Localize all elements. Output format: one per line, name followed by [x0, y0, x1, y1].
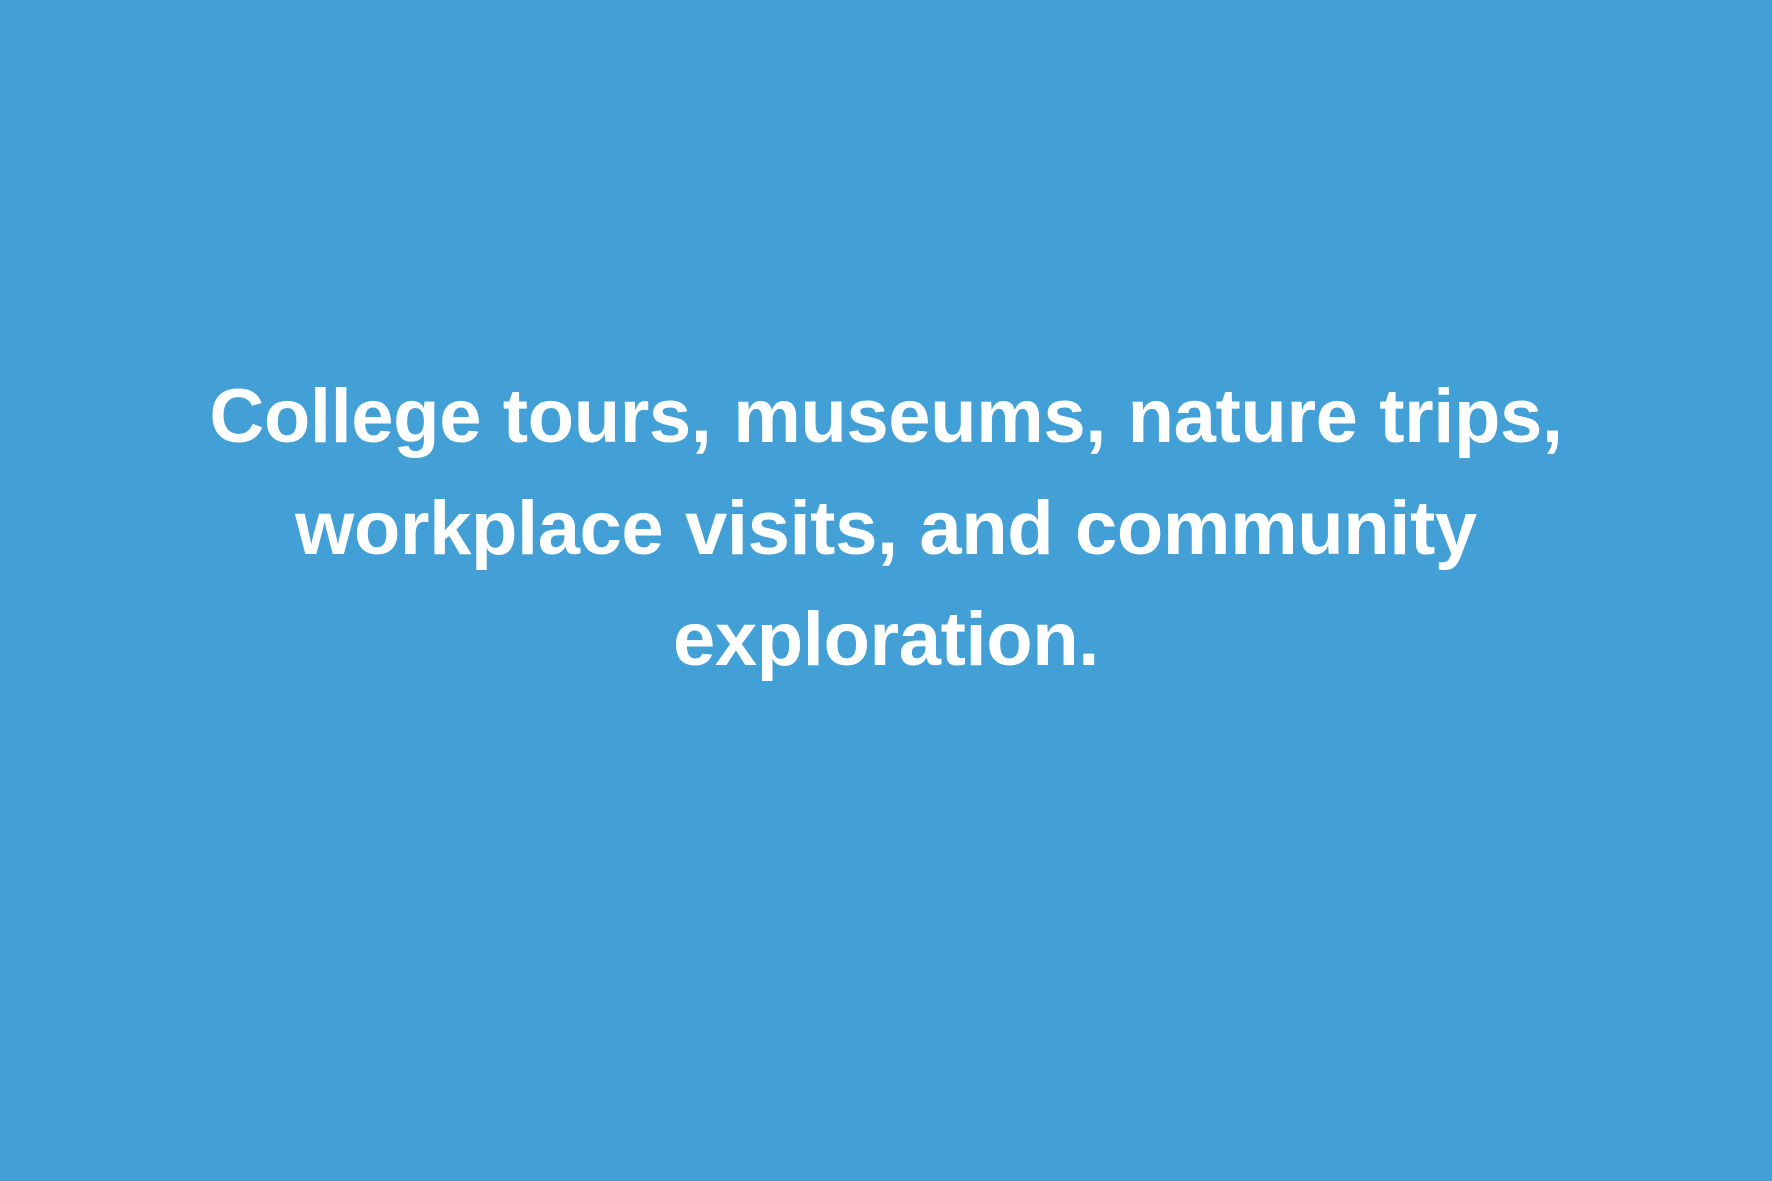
- quote-block: College tours, museums, nature trips, wo…: [66, 361, 1706, 696]
- quote-slide: College tours, museums, nature trips, wo…: [0, 0, 1772, 1181]
- quote-text: College tours, museums, nature trips, wo…: [126, 361, 1646, 696]
